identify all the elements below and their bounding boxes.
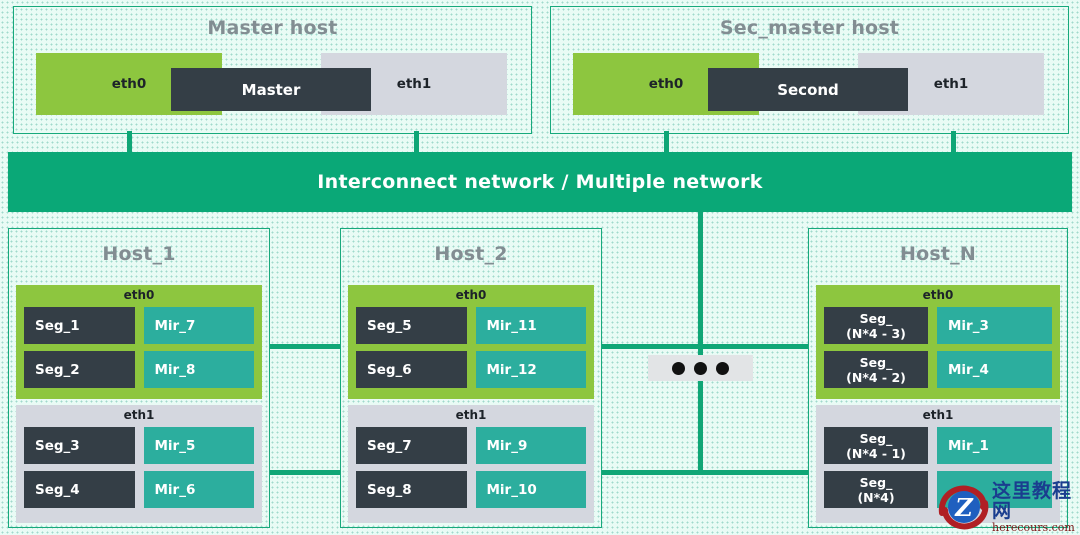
segment-box[interactable]: Seg_5 <box>356 307 467 344</box>
segment-box[interactable]: Seg_ (N*4 - 3) <box>824 307 928 344</box>
host-1-eth0-band: eth0 Seg_1 Mir_7 Seg_2 Mir_8 <box>16 285 262 399</box>
watermark: Z 这里教程网 herecours.com <box>938 482 1080 532</box>
segment-box[interactable]: Seg_ (N*4 - 1) <box>824 427 928 464</box>
watermark-logo-letter: Z <box>954 493 974 522</box>
second-role-label: Second <box>777 81 839 99</box>
host-1-eth1-row-2: Seg_4 Mir_6 <box>24 471 254 508</box>
segment-label-line2: (N*4 - 1) <box>846 446 906 461</box>
host-2-eth1-label: eth1 <box>348 405 594 422</box>
host-2-panel: Host_2 eth0 Seg_5 Mir_11 Seg_6 Mir_12 et… <box>340 228 602 528</box>
more-hosts-ellipsis <box>648 355 753 381</box>
mirror-box[interactable]: Mir_3 <box>937 307 1052 344</box>
master-host-panel: Master host eth0 eth1 Master <box>13 6 532 134</box>
master-eth1-connector <box>414 131 419 154</box>
host-1-eth1-row-1: Seg_3 Mir_5 <box>24 427 254 464</box>
ellipsis-dot <box>694 362 707 375</box>
segment-box[interactable]: Seg_2 <box>24 351 135 388</box>
host-2-eth0-label: eth0 <box>348 285 594 302</box>
host-n-eth0-row-1: Seg_ (N*4 - 3) Mir_3 <box>824 307 1052 344</box>
host-2-eth0-row-2: Seg_6 Mir_12 <box>356 351 586 388</box>
mirror-box[interactable]: Mir_10 <box>476 471 587 508</box>
master-host-eth1-label: eth1 <box>397 76 432 92</box>
segment-label-line1: Seg_ <box>860 355 893 370</box>
diagram-canvas: Master host eth0 eth1 Master Sec_master … <box>0 0 1080 532</box>
segment-label-line2: (N*4 - 2) <box>846 370 906 385</box>
mirror-box[interactable]: Mir_6 <box>144 471 255 508</box>
sec-master-eth0-connector <box>664 131 669 154</box>
segment-box[interactable]: Seg_3 <box>24 427 135 464</box>
host-1-eth1-label: eth1 <box>16 405 262 422</box>
host-2-eth0-band: eth0 Seg_5 Mir_11 Seg_6 Mir_12 <box>348 285 594 399</box>
host-2-eth0-row-1: Seg_5 Mir_11 <box>356 307 586 344</box>
mirror-box[interactable]: Mir_12 <box>476 351 587 388</box>
segment-box[interactable]: Seg_6 <box>356 351 467 388</box>
master-eth0-connector <box>127 131 132 154</box>
sec-master-host-eth1-label: eth1 <box>934 76 969 92</box>
host-n-eth1-row-1: Seg_ (N*4 - 1) Mir_1 <box>824 427 1052 464</box>
master-role-label: Master <box>242 81 301 99</box>
host-1-eth0-label: eth0 <box>16 285 262 302</box>
host-n-eth0-band: eth0 Seg_ (N*4 - 3) Mir_3 Seg_ (N*4 - 2)… <box>816 285 1060 399</box>
segment-label-line1: Seg_ <box>860 431 893 446</box>
host-1-panel: Host_1 eth0 Seg_1 Mir_7 Seg_2 Mir_8 eth1… <box>8 228 270 528</box>
host-2-title: Host_2 <box>341 243 601 265</box>
master-role-box[interactable]: Master <box>171 68 371 111</box>
segment-box[interactable]: Seg_8 <box>356 471 467 508</box>
segment-label-line1: Seg_ <box>860 475 893 490</box>
watermark-chinese-text: 这里教程网 <box>992 481 1080 521</box>
host-1-eth0-row-2: Seg_2 Mir_8 <box>24 351 254 388</box>
host-n-title: Host_N <box>809 243 1067 265</box>
segment-label-line1: Seg_ <box>860 311 893 326</box>
watermark-logo-icon: Z <box>938 483 990 531</box>
sec-master-eth1-connector <box>951 131 956 154</box>
sec-master-host-eth0-label: eth0 <box>649 76 684 92</box>
segment-box[interactable]: Seg_1 <box>24 307 135 344</box>
segment-box[interactable]: Seg_ (N*4 - 2) <box>824 351 928 388</box>
host-n-eth1-label: eth1 <box>816 405 1060 422</box>
segment-label-line2: (N*4 - 3) <box>846 326 906 341</box>
host-2-eth1-band: eth1 Seg_7 Mir_9 Seg_8 Mir_10 <box>348 405 594 523</box>
host-1-eth1-band: eth1 Seg_3 Mir_5 Seg_4 Mir_6 <box>16 405 262 523</box>
interconnect-network-bar: Interconnect network / Multiple network <box>8 152 1072 212</box>
mirror-box[interactable]: Mir_11 <box>476 307 587 344</box>
mirror-box[interactable]: Mir_9 <box>476 427 587 464</box>
segment-box[interactable]: Seg_4 <box>24 471 135 508</box>
segment-label-line2: (N*4) <box>857 490 894 505</box>
host-2-eth1-row-1: Seg_7 Mir_9 <box>356 427 586 464</box>
mirror-box[interactable]: Mir_4 <box>937 351 1052 388</box>
master-host-title: Master host <box>14 17 531 39</box>
mirror-box[interactable]: Mir_1 <box>937 427 1052 464</box>
mirror-box[interactable]: Mir_5 <box>144 427 255 464</box>
sec-master-host-panel: Sec_master host eth0 eth1 Second <box>550 6 1069 134</box>
ellipsis-dot <box>716 362 729 375</box>
segment-box[interactable]: Seg_7 <box>356 427 467 464</box>
host-1-title: Host_1 <box>9 243 269 265</box>
master-host-eth0-label: eth0 <box>112 76 147 92</box>
host-n-eth0-label: eth0 <box>816 285 1060 302</box>
segment-box[interactable]: Seg_ (N*4) <box>824 471 928 508</box>
host-n-eth0-row-2: Seg_ (N*4 - 2) Mir_4 <box>824 351 1052 388</box>
second-role-box[interactable]: Second <box>708 68 908 111</box>
mirror-box[interactable]: Mir_7 <box>144 307 255 344</box>
watermark-text: 这里教程网 herecours.com <box>992 481 1080 534</box>
host-2-eth1-row-2: Seg_8 Mir_10 <box>356 471 586 508</box>
mirror-box[interactable]: Mir_8 <box>144 351 255 388</box>
interconnect-network-label: Interconnect network / Multiple network <box>317 171 762 193</box>
sec-master-host-title: Sec_master host <box>551 17 1068 39</box>
ellipsis-dot <box>672 362 685 375</box>
host-1-eth0-row-1: Seg_1 Mir_7 <box>24 307 254 344</box>
